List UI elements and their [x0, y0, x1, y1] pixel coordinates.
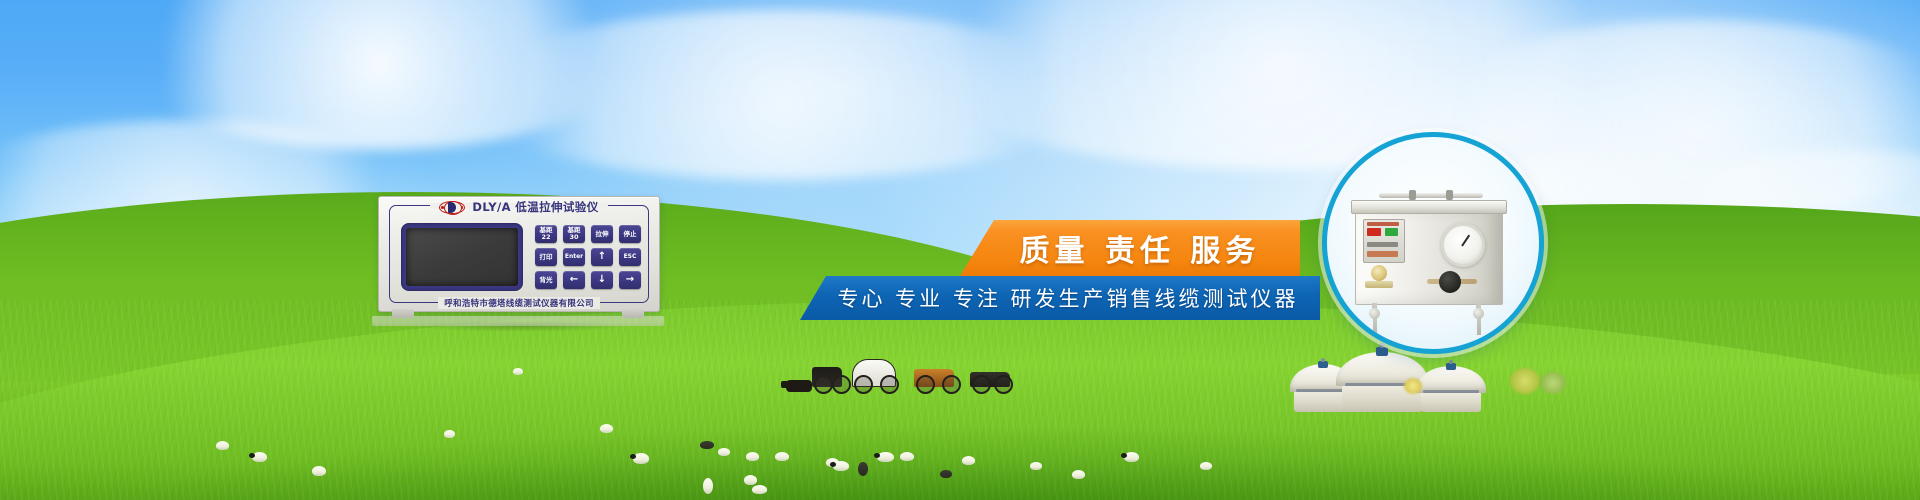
- cart: [908, 364, 974, 394]
- cart: [844, 358, 912, 394]
- sheep: [744, 475, 757, 485]
- pressure-gauge-icon: [1441, 223, 1485, 267]
- device-model-title: DLY/A 低温拉伸试验仪: [472, 199, 598, 215]
- sheep: [900, 452, 914, 461]
- secondary-slogan-text: 专心 专业 专注 研发生产销售线缆测试仪器: [821, 283, 1298, 313]
- machine-control-panel: [1363, 219, 1405, 263]
- yurt-cluster: [1290, 340, 1505, 412]
- sheep: [833, 461, 849, 471]
- product-photo-circle: [1322, 132, 1544, 354]
- sheep: [700, 441, 714, 449]
- tensile-tester-device: DLY/A 低温拉伸试验仪 基距 22 基距 30 拉伸 停止 打印 Enter…: [378, 196, 658, 326]
- lcd-display-area: [406, 228, 518, 286]
- sheep: [703, 478, 713, 494]
- sheep: [1200, 462, 1212, 470]
- sheep: [1030, 462, 1042, 470]
- sheep: [252, 452, 267, 462]
- sheep: [775, 452, 789, 461]
- key-base-30[interactable]: 基距 30: [563, 225, 585, 243]
- device-foot: [392, 309, 414, 318]
- caster-wheel: [1473, 303, 1484, 319]
- key-stretch[interactable]: 拉伸: [591, 225, 613, 243]
- key-base-22[interactable]: 基距 22: [535, 225, 557, 243]
- valve-icon: [1371, 265, 1387, 281]
- promo-banner: 质量 责任 服务 专心 专业 专注 研发生产销售线缆测试仪器: [0, 0, 1920, 500]
- primary-slogan-text: 质量 责任 服务: [1000, 226, 1261, 270]
- sheep: [444, 430, 455, 438]
- sheep: [877, 452, 894, 462]
- key-print[interactable]: 打印: [535, 248, 557, 266]
- ox-cart-caravan: [790, 352, 1020, 394]
- device-foot: [622, 309, 644, 318]
- primary-slogan-banner: 质量 责任 服务: [960, 220, 1300, 276]
- yurt: [1416, 364, 1486, 412]
- cart: [790, 362, 852, 394]
- key-stop[interactable]: 停止: [619, 225, 641, 243]
- bush: [1540, 372, 1566, 394]
- bush: [1510, 368, 1540, 394]
- green-indicator-light: [1385, 228, 1398, 236]
- knob-icon: [1439, 271, 1461, 293]
- sheep: [312, 466, 326, 476]
- sheep: [1124, 452, 1139, 462]
- red-indicator-light: [1367, 228, 1381, 236]
- sheep: [858, 462, 868, 476]
- sheep: [718, 448, 730, 456]
- arrow-right-icon[interactable]: →: [619, 271, 641, 289]
- device-case: DLY/A 低温拉伸试验仪 基距 22 基距 30 拉伸 停止 打印 Enter…: [378, 196, 660, 312]
- sheep: [752, 485, 767, 494]
- device-company-name: 呼和浩特市德塔线缆测试仪器有限公司: [438, 297, 600, 309]
- sheep: [216, 441, 229, 450]
- sheep: [633, 453, 649, 464]
- sheep: [962, 456, 975, 465]
- sheep: [1072, 470, 1085, 479]
- device-keypad: 基距 22 基距 30 拉伸 停止 打印 Enter ↑ ESC 背光 ← ↓ …: [535, 225, 639, 289]
- sheep: [746, 452, 759, 461]
- arrow-left-icon[interactable]: ←: [563, 271, 585, 289]
- device-bottom-row: 呼和浩特市德塔线缆测试仪器有限公司: [379, 296, 659, 310]
- autoclave-machine-image: [1355, 197, 1507, 309]
- key-esc[interactable]: ESC: [619, 248, 641, 266]
- cart: [966, 368, 1022, 394]
- device-base: [372, 316, 664, 326]
- sheep: [600, 424, 613, 433]
- secondary-slogan-banner: 专心 专业 专注 研发生产销售线缆测试仪器: [800, 276, 1320, 320]
- caster-wheel: [1369, 303, 1380, 319]
- grass-shading: [0, 380, 1920, 500]
- arrow-down-icon[interactable]: ↓: [591, 271, 613, 289]
- device-title-row: DLY/A 低温拉伸试验仪: [379, 199, 659, 215]
- bush: [1404, 378, 1422, 394]
- arrow-up-icon[interactable]: ↑: [591, 248, 613, 266]
- device-lcd-screen: [401, 223, 523, 291]
- sheep: [513, 368, 523, 375]
- key-enter[interactable]: Enter: [563, 248, 585, 266]
- company-logo-icon: [439, 201, 465, 214]
- sheep: [940, 470, 952, 478]
- key-backlight[interactable]: 背光: [535, 271, 557, 289]
